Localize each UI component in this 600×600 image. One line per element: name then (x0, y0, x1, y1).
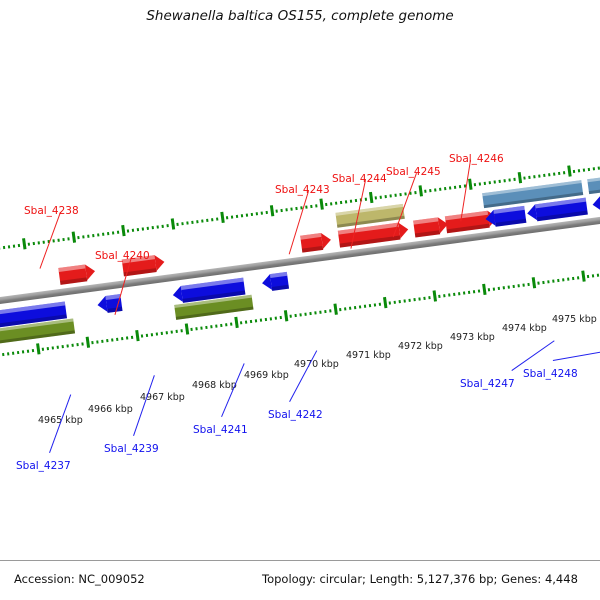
ruler-minor-tick (18, 244, 20, 247)
ruler-minor-tick (216, 217, 218, 220)
ruler-minor-tick (325, 203, 327, 206)
ruler-minor-tick (101, 340, 103, 343)
ruler-minor-tick (117, 231, 119, 234)
ruler-minor-tick (350, 200, 352, 203)
ruler-minor-tick (71, 344, 73, 347)
ruler-minor-tick (295, 207, 297, 210)
ruler-minor-tick (241, 214, 243, 217)
ruler-minor-tick (394, 301, 396, 304)
ruler-minor-tick (67, 237, 69, 240)
genome-track (0, 221, 595, 300)
gene-label-sbal_4245[interactable]: Sbal_4245 (386, 166, 441, 178)
footer-divider (0, 560, 600, 561)
ruler-minor-tick (562, 278, 564, 281)
ruler-minor-tick (552, 280, 554, 283)
ruler-minor-tick (111, 338, 113, 341)
ruler-minor-tick (340, 201, 342, 204)
scale-tick-label: 4966 kbp (88, 404, 133, 415)
scale-tick-label: 4968 kbp (192, 380, 237, 391)
ruler-minor-tick (567, 278, 569, 281)
ruler-minor-tick (474, 183, 476, 186)
gene-arrow-tip (96, 296, 107, 313)
page-title: Shewanella baltica OS155, complete genom… (0, 8, 600, 24)
ruler-minor-tick (275, 210, 277, 213)
ruler-major-tick (468, 179, 472, 190)
ruler-minor-tick (439, 188, 441, 191)
ruler-minor-tick (196, 220, 198, 223)
ruler-major-tick (86, 337, 90, 348)
ruler-minor-tick (260, 319, 262, 322)
ruler-minor-tick (330, 202, 332, 205)
ruler-minor-tick (66, 344, 68, 347)
gene-label-sbal_4242[interactable]: Sbal_4242 (268, 409, 323, 421)
ruler-major-tick (433, 290, 437, 301)
gene-arrow-forward[interactable] (58, 263, 96, 285)
ruler-minor-tick (91, 341, 93, 344)
ruler-major-tick (284, 310, 288, 321)
ruler-minor-tick (225, 323, 227, 326)
gene-label-sbal_4243[interactable]: Sbal_4243 (275, 184, 330, 196)
ruler-minor-tick (256, 212, 258, 215)
ruler-minor-tick (131, 336, 133, 339)
ruler-minor-tick (434, 188, 436, 191)
ruler-minor-tick (76, 343, 78, 346)
ruler-minor-tick (22, 350, 24, 353)
feature-body (493, 206, 526, 227)
ruler-minor-tick (226, 216, 228, 219)
ruler-minor-tick (210, 325, 212, 328)
ruler-minor-tick (280, 209, 282, 212)
ruler-minor-tick (42, 348, 44, 351)
ruler-major-tick (220, 212, 224, 223)
ruler-minor-tick (33, 242, 35, 245)
ruler-minor-tick (418, 297, 420, 300)
ruler-minor-tick (454, 186, 456, 189)
gene-arrow-tip (154, 254, 165, 271)
ruler-minor-tick (57, 346, 59, 349)
ruler-minor-tick (489, 181, 491, 184)
ruler-major-tick (419, 185, 423, 196)
gene-label-leader-line (511, 340, 554, 371)
gene-arrow-tip (592, 196, 600, 213)
ruler-minor-tick (563, 171, 565, 174)
ruler-minor-tick (251, 213, 253, 216)
ruler-minor-tick (171, 330, 173, 333)
ruler-minor-tick (17, 351, 19, 354)
ruler-minor-tick (102, 233, 104, 236)
ruler-minor-tick (161, 225, 163, 228)
ruler-minor-tick (7, 352, 9, 355)
ruler-minor-tick (57, 239, 59, 242)
gene-label-sbal_4247[interactable]: Sbal_4247 (460, 378, 515, 390)
ruler-minor-tick (423, 297, 425, 300)
feature-body (445, 211, 490, 234)
ruler-minor-tick (399, 193, 401, 196)
ruler-minor-tick (369, 304, 371, 307)
ruler-minor-tick (180, 329, 182, 332)
ruler-minor-tick (324, 310, 326, 313)
ruler-minor-tick (96, 340, 98, 343)
ruler-minor-tick (513, 178, 515, 181)
ruler-minor-tick (266, 211, 268, 214)
scale-tick-label: 4974 kbp (502, 323, 547, 334)
ruler-minor-tick (517, 284, 519, 287)
gene-label-leader-line (553, 351, 600, 361)
ruler-minor-tick (97, 233, 99, 236)
gene-arrow-tip (526, 204, 537, 221)
ruler-minor-tick (82, 235, 84, 238)
gene-arrow-tip (261, 274, 272, 291)
ruler-minor-tick (572, 277, 574, 280)
gene-label-sbal_4239[interactable]: Sbal_4239 (104, 443, 159, 455)
ruler-minor-tick (201, 219, 203, 222)
ruler-minor-tick (408, 299, 410, 302)
feature-body (535, 198, 588, 222)
ruler-major-tick (482, 284, 486, 295)
ruler-minor-tick (493, 287, 495, 290)
ruler-minor-tick (385, 195, 387, 198)
gene-label-sbal_4241[interactable]: Sbal_4241 (193, 424, 248, 436)
ruler-minor-tick (230, 323, 232, 326)
ruler-minor-tick (345, 200, 347, 203)
ruler-minor-tick (107, 232, 109, 235)
ruler-minor-tick (538, 174, 540, 177)
gene-arrow-forward[interactable] (413, 216, 449, 237)
ruler-minor-tick (146, 334, 148, 337)
gene-arrow-reverse[interactable] (261, 272, 289, 292)
ruler-minor-tick (315, 204, 317, 207)
gene-arrow-tip (85, 263, 96, 280)
scale-tick-label: 4973 kbp (450, 332, 495, 343)
ruler-minor-tick (355, 199, 357, 202)
ruler-minor-tick (200, 326, 202, 329)
ruler-minor-tick (176, 330, 178, 333)
ruler-minor-tick (166, 224, 168, 227)
gene-arrow-forward[interactable] (300, 232, 332, 253)
ruler-minor-tick (339, 308, 341, 311)
ruler-minor-tick (310, 205, 312, 208)
ruler-minor-tick (305, 206, 307, 209)
ruler-minor-tick (275, 317, 277, 320)
ruler-minor-tick (141, 334, 143, 337)
scale-tick-label: 4970 kbp (294, 359, 339, 370)
ruler-minor-tick (290, 208, 292, 211)
ruler-minor-tick (528, 176, 530, 179)
scale-tick-label: 4969 kbp (244, 370, 289, 381)
gene-arrow-tip (172, 286, 183, 303)
ruler-minor-tick (488, 288, 490, 291)
ruler-minor-tick (13, 245, 15, 248)
ruler-minor-tick (191, 221, 193, 224)
ruler-minor-tick (270, 317, 272, 320)
ruler-minor-tick (304, 313, 306, 316)
gene-label-sbal_4246[interactable]: Sbal_4246 (449, 153, 504, 165)
ruler-minor-tick (280, 316, 282, 319)
ruler-minor-tick (413, 298, 415, 301)
ruler-minor-tick (588, 168, 590, 171)
ruler-minor-tick (81, 342, 83, 345)
ruler-minor-tick (126, 336, 128, 339)
ruler-minor-tick (379, 303, 381, 306)
ruler-minor-tick (375, 196, 377, 199)
ruler-minor-tick (151, 333, 153, 336)
ruler-minor-tick (190, 328, 192, 331)
ruler-minor-tick (592, 274, 594, 277)
ruler-minor-tick (62, 345, 64, 348)
gene-label-sbal_4244[interactable]: Sbal_4244 (332, 173, 387, 185)
ruler-minor-tick (157, 225, 159, 228)
ruler-minor-tick (27, 350, 29, 353)
ruler-minor-tick (32, 349, 34, 352)
ruler-minor-tick (161, 332, 163, 335)
ruler-minor-tick (77, 236, 79, 239)
ruler-major-tick (333, 304, 337, 315)
ruler-minor-tick (593, 167, 595, 170)
gene-label-sbal_4248[interactable]: Sbal_4248 (523, 368, 578, 380)
accession-text: Accession: NC_009052 (14, 572, 145, 586)
ruler-minor-tick (47, 347, 49, 350)
ruler-minor-tick (448, 293, 450, 296)
ruler-major-tick (121, 225, 125, 236)
ruler-minor-tick (314, 311, 316, 314)
ruler-minor-tick (498, 287, 500, 290)
ruler-major-tick (518, 172, 522, 183)
ruler-minor-tick (428, 296, 430, 299)
ruler-minor-tick (459, 185, 461, 188)
gene-label-sbal_4237[interactable]: Sbal_4237 (16, 460, 71, 472)
ruler-minor-tick (121, 337, 123, 340)
gene-arrow-reverse[interactable] (485, 206, 527, 228)
ruler-minor-tick (186, 221, 188, 224)
ruler-minor-tick (205, 326, 207, 329)
ruler-minor-tick (231, 215, 233, 218)
ruler-minor-tick (236, 215, 238, 218)
ruler-minor-tick (414, 191, 416, 194)
ruler-minor-tick (152, 226, 154, 229)
ruler-minor-tick (533, 175, 535, 178)
ruler-minor-tick (478, 289, 480, 292)
ruler-minor-tick (597, 274, 599, 277)
ruler-major-tick (36, 343, 40, 354)
ruler-minor-tick (573, 170, 575, 173)
ruler-minor-tick (394, 194, 396, 197)
ruler-minor-tick (127, 229, 129, 232)
ruler-minor-tick (508, 178, 510, 181)
ruler-minor-tick (449, 186, 451, 189)
ruler-minor-tick (112, 231, 114, 234)
ruler-minor-tick (52, 346, 54, 349)
ruler-minor-tick (553, 172, 555, 175)
gene-arrow-tip (485, 210, 496, 227)
ruler-minor-tick (329, 309, 331, 312)
ruler-minor-tick (147, 227, 149, 230)
gene-label-sbal_4240[interactable]: Sbal_4240 (95, 250, 150, 262)
feature-body (58, 264, 87, 284)
ruler-minor-tick (380, 196, 382, 199)
ruler-minor-tick (389, 194, 391, 197)
ruler-minor-tick (8, 245, 10, 248)
ruler-minor-tick (522, 283, 524, 286)
ruler-minor-tick (577, 276, 579, 279)
ruler-minor-tick (523, 176, 525, 179)
ruler-minor-tick (494, 180, 496, 183)
scale-tick-label: 4971 kbp (346, 350, 391, 361)
ruler-minor-tick (344, 307, 346, 310)
ruler-minor-tick (2, 353, 4, 356)
ruler-minor-tick (106, 339, 108, 342)
ruler-major-tick (581, 270, 585, 281)
ruler-minor-tick (87, 235, 89, 238)
ruler-minor-tick (484, 182, 486, 185)
ruler-minor-tick (215, 324, 217, 327)
ruler-minor-tick (587, 275, 589, 278)
ruler-minor-tick (473, 290, 475, 293)
ruler-minor-tick (309, 312, 311, 315)
feature-body (300, 233, 323, 253)
ruler-minor-tick (403, 299, 405, 302)
ruler-major-tick (532, 277, 536, 288)
ruler-minor-tick (364, 305, 366, 308)
ruler-minor-tick (503, 286, 505, 289)
ruler-minor-tick (195, 327, 197, 330)
ruler-minor-tick (583, 169, 585, 172)
scale-tick-label: 4972 kbp (398, 341, 443, 352)
ruler-major-tick (22, 238, 26, 249)
ruler-minor-tick (245, 321, 247, 324)
ruler-minor-tick (176, 223, 178, 226)
gene-arrow-tip (398, 221, 409, 238)
ruler-minor-tick (429, 189, 431, 192)
ruler-major-tick (270, 205, 274, 216)
ruler-minor-tick (547, 280, 549, 283)
ruler-minor-tick (116, 338, 118, 341)
ruler-minor-tick (181, 222, 183, 225)
ruler-minor-tick (527, 283, 529, 286)
ruler-minor-tick (166, 331, 168, 334)
gene-label-sbal_4238[interactable]: Sbal_4238 (24, 205, 79, 217)
genome-viewer: Shewanella baltica OS155, complete genom… (0, 0, 600, 600)
gene-label-leader-line (133, 375, 155, 436)
ruler-major-tick (567, 165, 571, 176)
ruler-minor-tick (557, 279, 559, 282)
ruler-minor-tick (399, 300, 401, 303)
ruler-minor-tick (354, 306, 356, 309)
ruler-major-tick (319, 198, 323, 209)
ruler-minor-tick (335, 202, 337, 205)
ruler-major-tick (171, 218, 175, 229)
ruler-minor-tick (211, 218, 213, 221)
ruler-minor-tick (444, 187, 446, 190)
ruler-minor-tick (43, 241, 45, 244)
ruler-minor-tick (443, 294, 445, 297)
ruler-minor-tick (542, 281, 544, 284)
ruler-minor-tick (374, 303, 376, 306)
gene-arrow-tip (321, 232, 332, 249)
ruler-minor-tick (499, 180, 501, 183)
ruler-minor-tick (479, 182, 481, 185)
ruler-minor-tick (52, 239, 54, 242)
ruler-minor-tick (424, 190, 426, 193)
ruler-minor-tick (38, 241, 40, 244)
ruler-minor-tick (132, 229, 134, 232)
ruler-minor-tick (543, 174, 545, 177)
scale-tick-label: 4975 kbp (552, 314, 597, 325)
ruler-minor-tick (137, 228, 139, 231)
ruler-minor-tick (548, 173, 550, 176)
ruler-minor-tick (265, 318, 267, 321)
ruler-minor-tick (558, 172, 560, 175)
ruler-minor-tick (453, 293, 455, 296)
ruler-minor-tick (404, 192, 406, 195)
ruler-minor-tick (240, 321, 242, 324)
ruler-minor-tick (261, 211, 263, 214)
ruler-minor-tick (389, 301, 391, 304)
ruler-minor-tick (578, 169, 580, 172)
ruler-minor-tick (503, 179, 505, 182)
ruler-minor-tick (92, 234, 94, 237)
ruler-minor-tick (255, 319, 257, 322)
ruler-minor-tick (537, 282, 539, 285)
ruler-minor-tick (285, 208, 287, 211)
ruler-minor-tick (513, 285, 515, 288)
ruler-minor-tick (220, 324, 222, 327)
ruler-minor-tick (156, 332, 158, 335)
feature-body (413, 217, 440, 237)
ruler-minor-tick (12, 352, 14, 355)
ruler-minor-tick (319, 311, 321, 314)
ruler-minor-tick (365, 198, 367, 201)
ruler-minor-tick (458, 292, 460, 295)
ruler-minor-tick (294, 314, 296, 317)
ruler-minor-tick (349, 307, 351, 310)
ruler-minor-tick (359, 305, 361, 308)
ruler-minor-tick (290, 315, 292, 318)
ruler-minor-tick (508, 285, 510, 288)
ruler-major-tick (234, 317, 238, 328)
ruler-major-tick (135, 330, 139, 341)
ruler-major-tick (383, 297, 387, 308)
ruler-minor-tick (3, 246, 5, 249)
ruler-minor-tick (468, 291, 470, 294)
feature-body (270, 272, 289, 291)
ruler-minor-tick (299, 313, 301, 316)
ruler-top (0, 153, 600, 260)
ruler-minor-tick (246, 213, 248, 216)
ruler-major-tick (185, 323, 189, 334)
ruler-minor-tick (142, 227, 144, 230)
ruler-minor-tick (206, 219, 208, 222)
genome-stats-text: Topology: circular; Length: 5,127,376 bp… (262, 572, 578, 586)
ruler-minor-tick (438, 295, 440, 298)
ruler-major-tick (72, 232, 76, 243)
ruler-minor-tick (28, 243, 30, 246)
ruler-minor-tick (250, 320, 252, 323)
ruler-minor-tick (463, 291, 465, 294)
ruler-major-tick (369, 192, 373, 203)
ruler-minor-tick (62, 238, 64, 241)
